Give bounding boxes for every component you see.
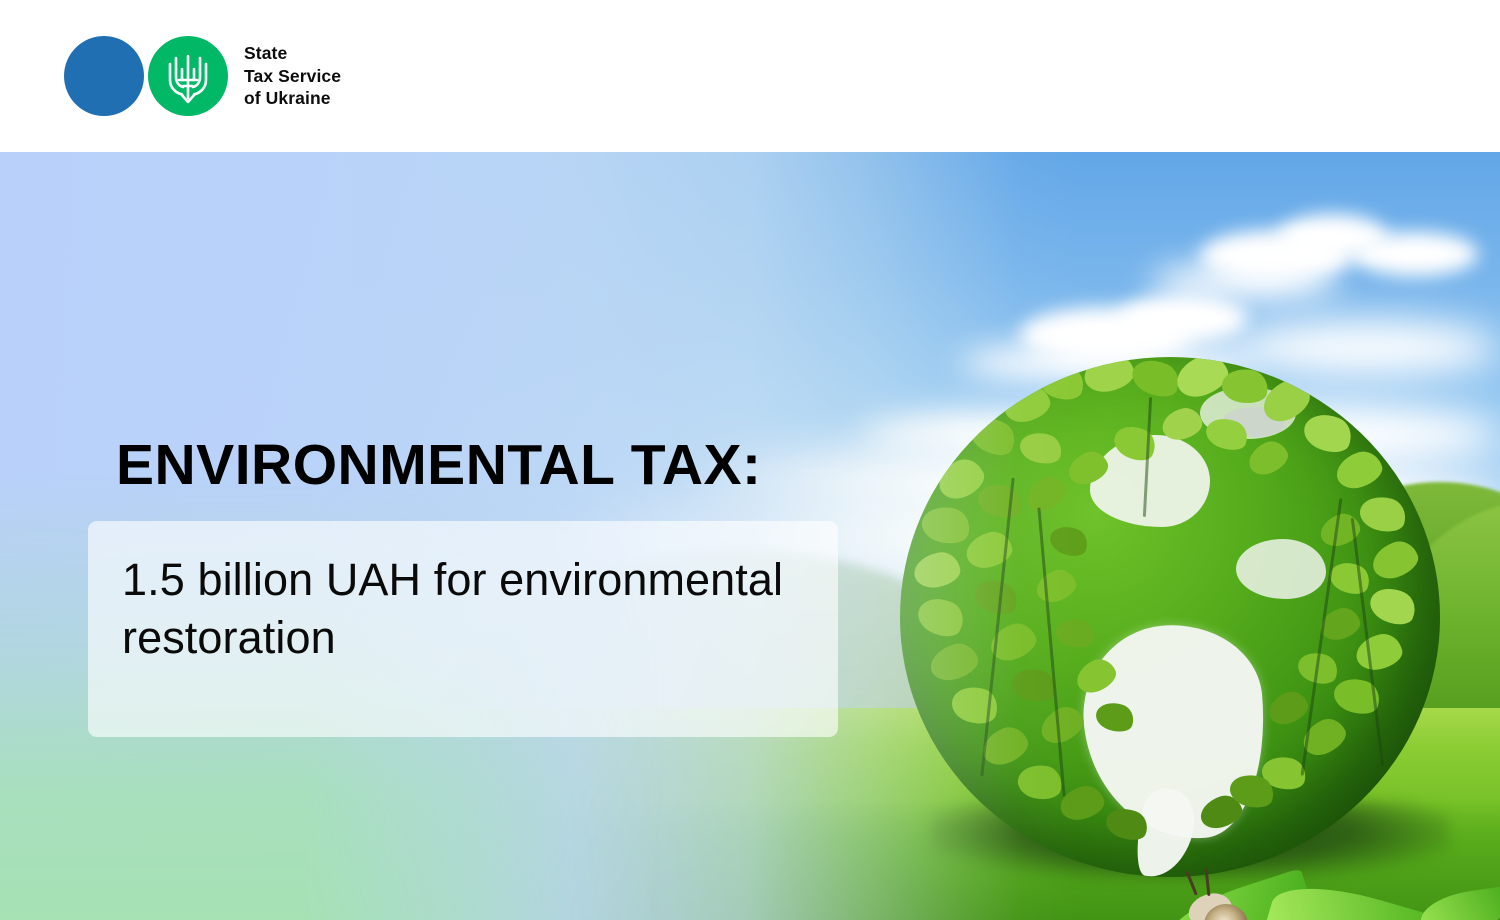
page-title: ENVIRONMENTAL TAX:: [116, 433, 762, 497]
environmental-tax-banner: State Tax Service of Ukraine: [0, 0, 1500, 920]
organization-name: State Tax Service of Ukraine: [244, 42, 341, 110]
page-header: State Tax Service of Ukraine: [0, 0, 1500, 152]
hero-artwork: ENVIRONMENTAL TAX: 1.5 billion UAH for e…: [0, 152, 1500, 920]
subtitle-text: 1.5 billion UAH for environmental restor…: [122, 551, 804, 667]
blue-circle-icon: [64, 36, 144, 116]
organization-logo[interactable]: State Tax Service of Ukraine: [64, 36, 341, 116]
logo-line-1: State: [244, 42, 341, 65]
subtitle-card: 1.5 billion UAH for environmental restor…: [88, 521, 838, 737]
logo-line-3: of Ukraine: [244, 87, 341, 110]
logo-marks: [64, 36, 228, 116]
logo-line-2: Tax Service: [244, 65, 341, 88]
ukraine-trident-icon: [148, 36, 228, 116]
